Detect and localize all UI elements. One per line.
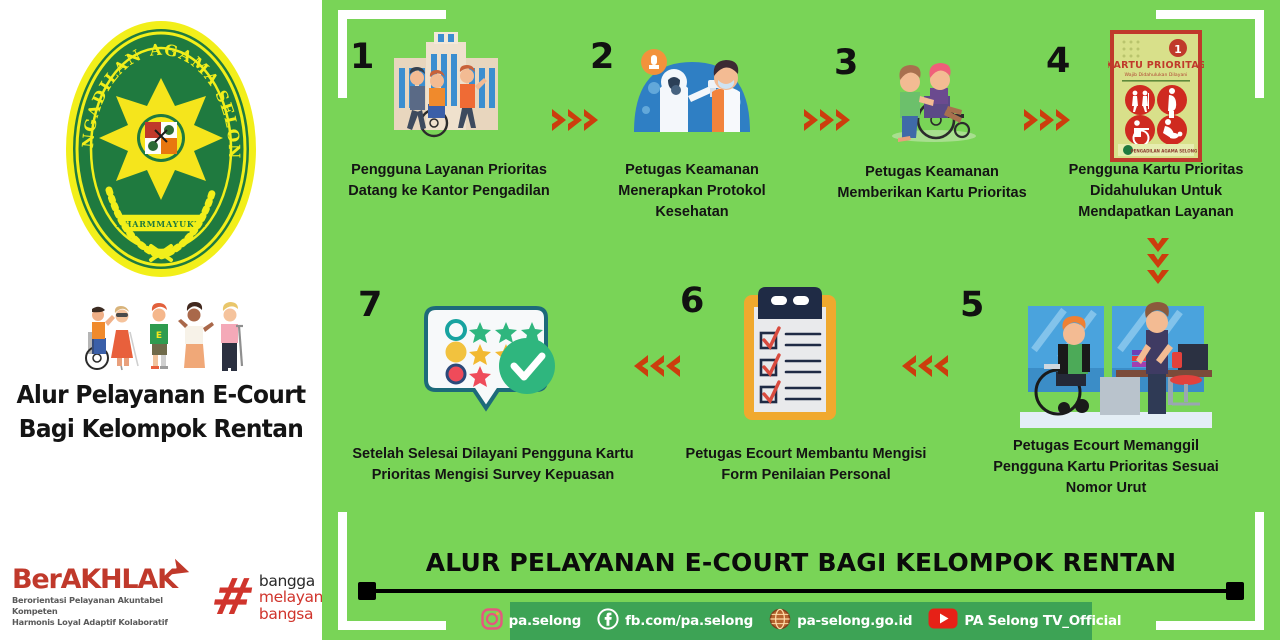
- sidebar: PENGADILAN AGAMA SELONG DHARMMAYUKTI: [0, 0, 322, 640]
- infographic-root: PENGADILAN AGAMA SELONG DHARMMAYUKTI: [0, 0, 1280, 640]
- social-handle-website: pa-selong.go.id: [797, 613, 912, 629]
- step-2-number: 2: [590, 40, 614, 75]
- step-7-number: 7: [358, 288, 382, 323]
- berakhlak-swoosh-icon: ➤: [165, 553, 194, 587]
- social-handle-youtube: PA Selong TV_Official: [964, 613, 1121, 629]
- chevron-right-triple-3-4: [1022, 106, 1072, 134]
- frame-bracket-bottom-right-h: [1156, 621, 1264, 630]
- chevron-left-triple-6-7: [632, 352, 682, 380]
- people-illustration: E: [72, 302, 250, 372]
- priority-card-badge-number: 1: [1174, 43, 1182, 56]
- chevron-right-triple-1-2: [550, 106, 600, 134]
- social-handle-facebook: fb.com/pa.selong: [625, 613, 753, 629]
- berakhlak-tagline-line1: Berorientasi Pelayanan Akuntabel Kompete…: [12, 595, 187, 617]
- step-5-number: 5: [960, 288, 984, 323]
- frame-bracket-bottom-left-h: [338, 621, 446, 630]
- court-seal-logo: PENGADILAN AGAMA SELONG DHARMMAYUKTI: [63, 18, 259, 280]
- health-protocol-thermometer-check-icon: [624, 40, 760, 132]
- berakhlak-main: AKHLAK: [61, 564, 177, 595]
- frame-bracket-top-left-h: [338, 10, 446, 19]
- globe-website-icon: [769, 608, 791, 635]
- step-3-label: Petugas Keamanan Memberikan Kartu Priori…: [834, 162, 1030, 204]
- social-bar: pa.selong fb.com/pa.selong: [510, 602, 1092, 640]
- satisfaction-survey-rating-icon: [422, 300, 562, 418]
- priority-card-subheading: Wajib Didahulukan Dilayani: [1125, 72, 1188, 78]
- frame-bracket-top-right-h: [1156, 10, 1264, 19]
- flow-panel: 1: [322, 0, 1280, 640]
- frame-bracket-top-right-v: [1255, 10, 1264, 98]
- svg-text:E: E: [156, 331, 162, 341]
- berakhlak-tagline: Berorientasi Pelayanan Akuntabel Kompete…: [12, 595, 187, 628]
- bangga-text: bangga melayani bangsa: [259, 573, 327, 623]
- chevron-left-triple-5-6: [900, 352, 950, 380]
- step-1-label: Pengguna Layanan Prioritas Datang ke Kan…: [334, 160, 564, 202]
- priority-card-heading: KARTU PRIORITAS: [1108, 60, 1204, 71]
- step-2-label: Petugas Keamanan Menerapkan Protokol Kes…: [590, 160, 794, 223]
- brand-row: BerAKHLAK ➤ Berorientasi Pelayanan Akunt…: [0, 552, 322, 632]
- sidebar-title-line1: Alur Pelayanan E-Court: [11, 378, 310, 412]
- clipboard-checklist-icon: [738, 285, 842, 425]
- instagram-icon: [481, 608, 503, 635]
- step-3-number: 3: [834, 46, 858, 81]
- step-5-label: Petugas Ecourt Memanggil Pengguna Kartu …: [982, 436, 1230, 499]
- social-item-instagram[interactable]: pa.selong: [481, 608, 581, 635]
- priority-card-footer: PENGADILAN AGAMA SELONG: [1131, 149, 1198, 154]
- bottom-rule-cap-left: [358, 582, 376, 600]
- step-6-number: 6: [680, 284, 704, 319]
- social-handle-instagram: pa.selong: [509, 613, 581, 629]
- bangga-melayani-bangsa-logo: # bangga melayani bangsa: [212, 573, 327, 623]
- chevron-down-triple-4-5: [1144, 236, 1172, 286]
- berakhlak-tagline-line2: Harmonis Loyal Adaptif Kolaboratif: [12, 617, 187, 628]
- step-7-label: Setelah Selesai Dilayani Pengguna Kartu …: [348, 444, 638, 486]
- step-4-label: Pengguna Kartu Prioritas Didahulukan Unt…: [1046, 160, 1266, 223]
- bangga-line2: melayani: [259, 589, 327, 606]
- social-item-facebook[interactable]: fb.com/pa.selong: [597, 608, 753, 635]
- step-6-label: Petugas Ecourt Membantu Mengisi Form Pen…: [678, 444, 934, 486]
- bangga-line1: bangga: [259, 573, 327, 590]
- officer-pushing-wheelchair-icon: [880, 52, 984, 144]
- berakhlak-wordmark: BerAKHLAK ➤: [12, 565, 177, 594]
- youtube-icon: [928, 608, 958, 634]
- sidebar-title: Alur Pelayanan E-Court Bagi Kelompok Ren…: [11, 378, 310, 446]
- bottom-rule-cap-right: [1226, 582, 1244, 600]
- social-item-website[interactable]: pa-selong.go.id: [769, 608, 912, 635]
- bottom-rule-line: [364, 589, 1238, 593]
- ecourt-officer-calling-user-at-desk-icon: [1020, 300, 1212, 428]
- berakhlak-logo: BerAKHLAK ➤ Berorientasi Pelayanan Akunt…: [12, 565, 187, 628]
- social-item-youtube[interactable]: PA Selong TV_Official: [928, 608, 1121, 634]
- bangga-line3: bangsa: [259, 606, 327, 623]
- hash-icon: #: [208, 575, 258, 619]
- priority-card-icon: 1 KARTU PRIORITAS Wajib Didahulukan Dila…: [1108, 28, 1204, 164]
- facebook-icon: [597, 608, 619, 635]
- step-4-number: 4: [1046, 44, 1070, 79]
- panel-bottom-title: ALUR PELAYANAN E-COURT BAGI KELOMPOK REN…: [322, 548, 1280, 577]
- sidebar-title-line2: Bagi Kelompok Rentan: [11, 412, 310, 446]
- step-1-number: 1: [350, 40, 374, 75]
- frame-bracket-top-left-v: [338, 10, 347, 98]
- berakhlak-prefix: Ber: [12, 564, 61, 595]
- chevron-right-triple-2-3: [802, 106, 852, 134]
- court-building-with-wheelchair-user-icon: [384, 28, 510, 140]
